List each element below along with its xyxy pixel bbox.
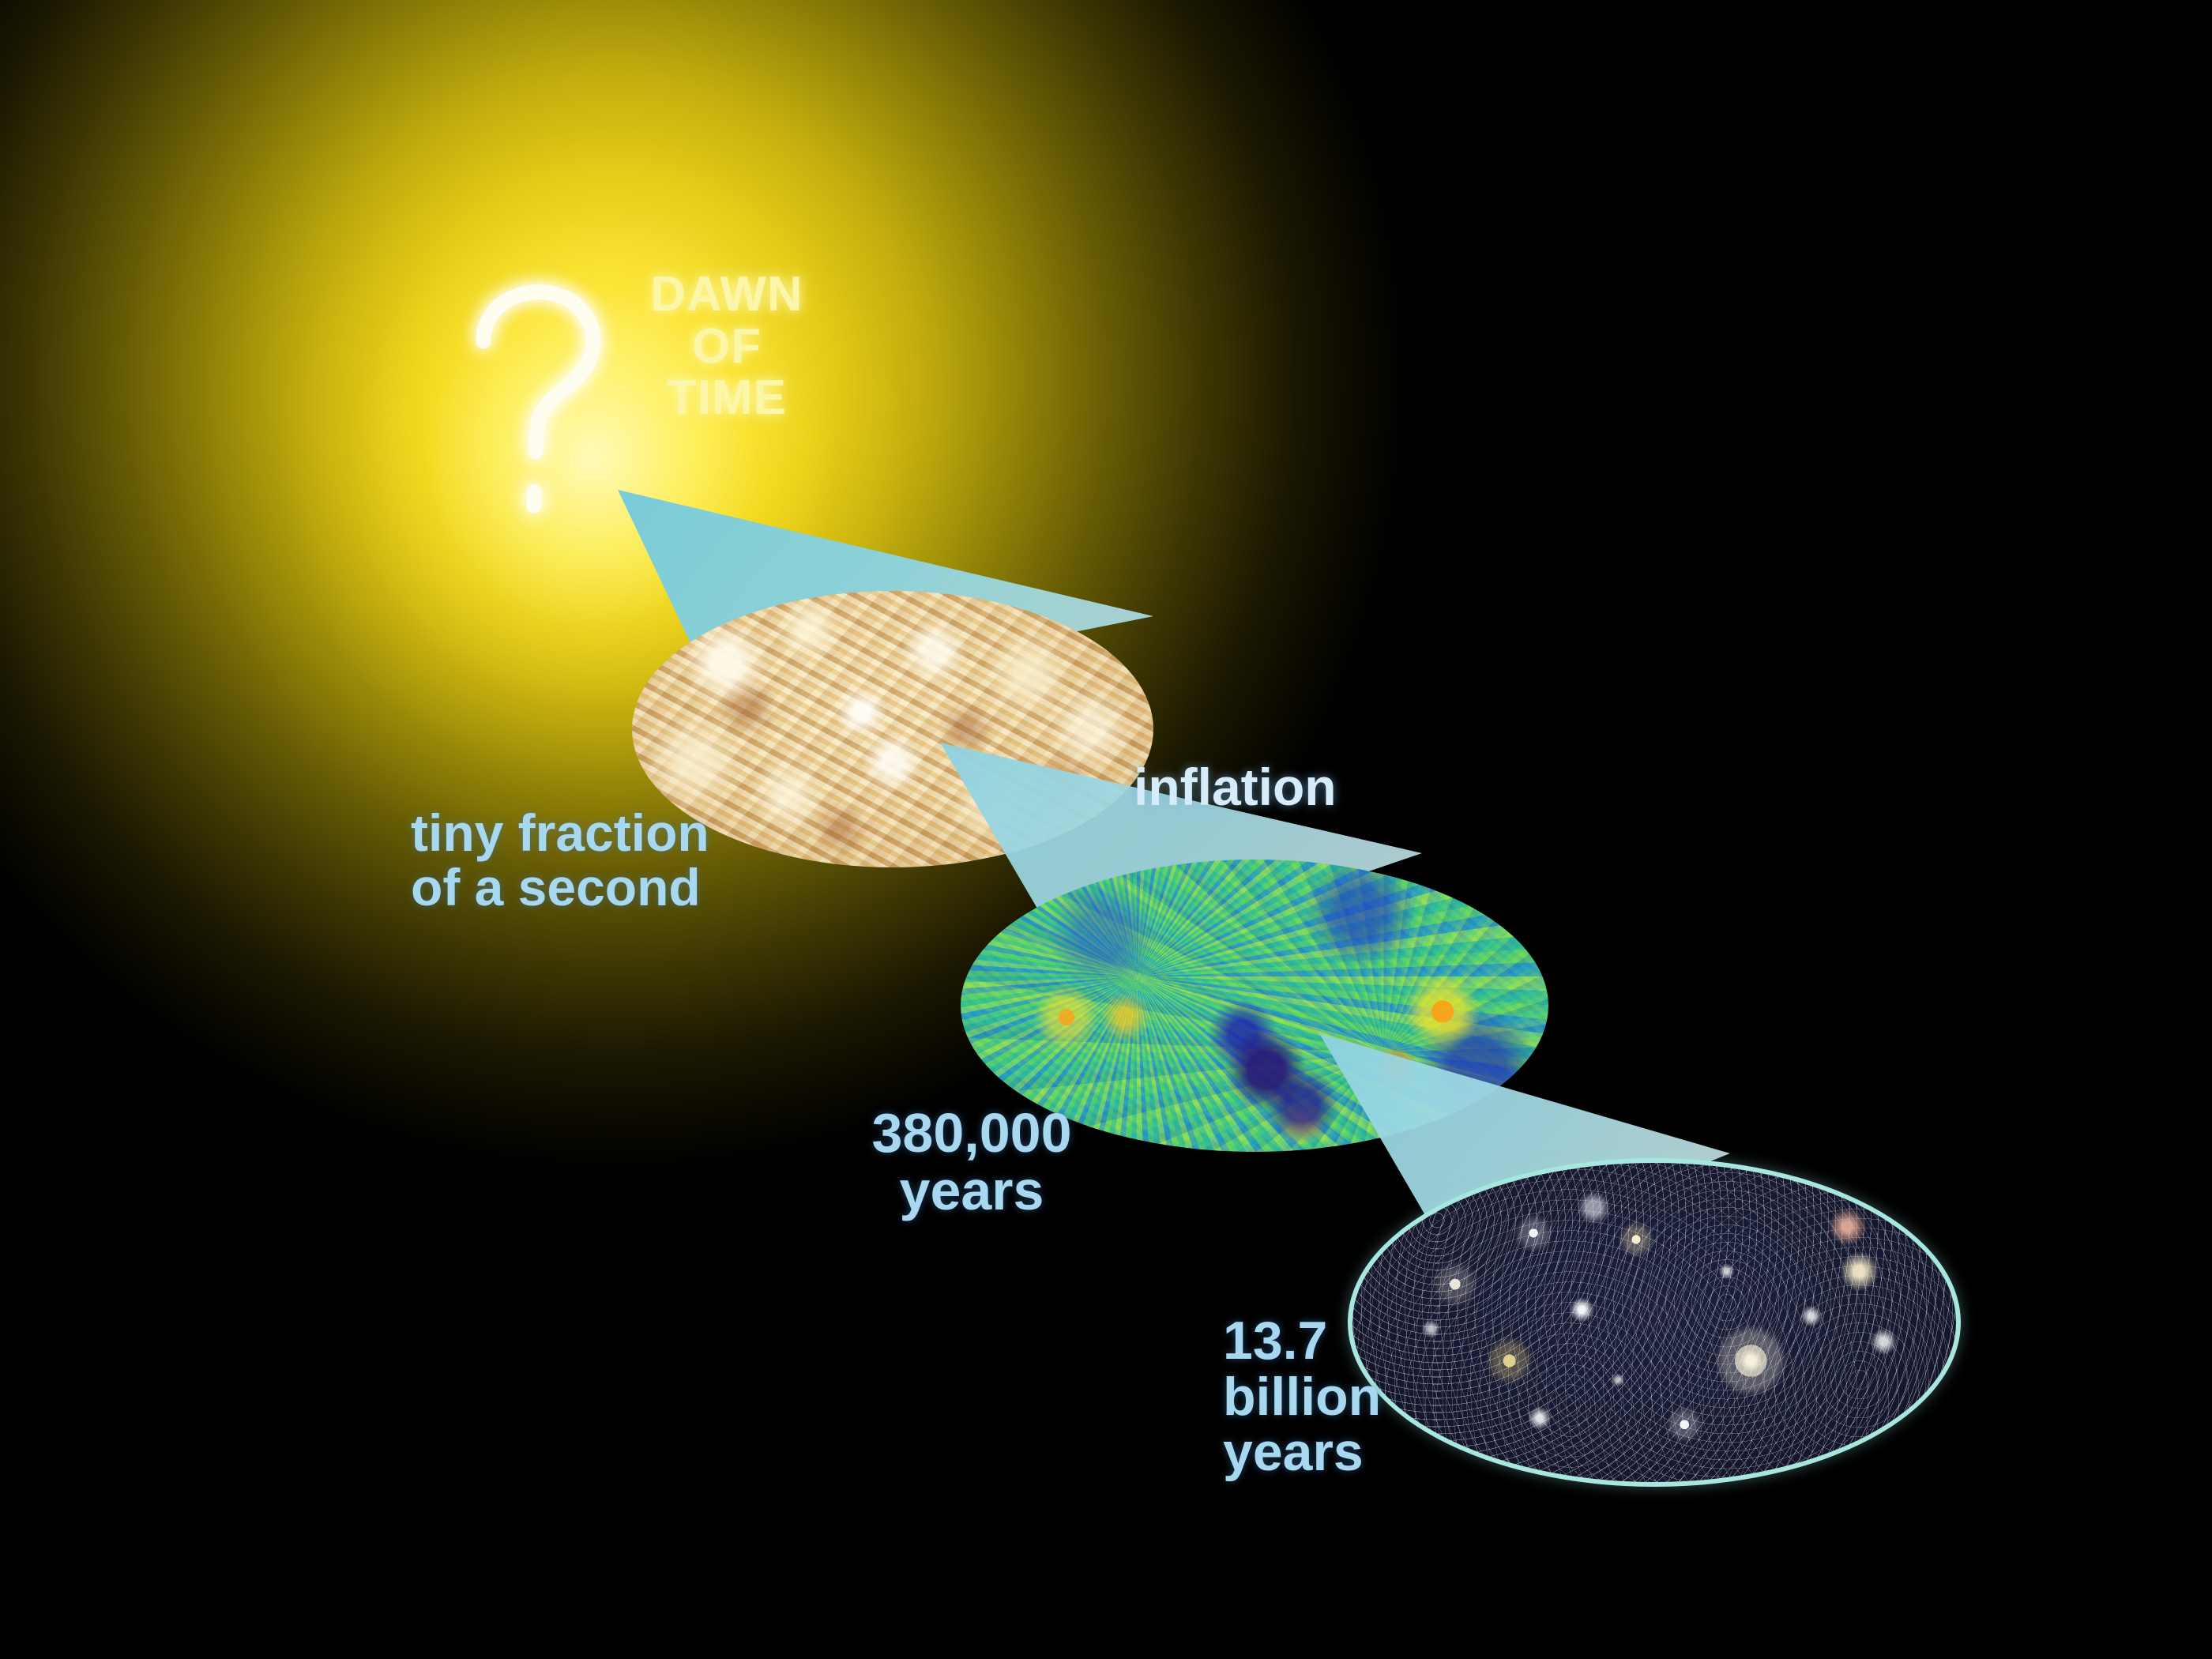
timeline-of-the-universe-figure: DAWN OF TIME tiny fraction of a second i… [0, 0, 2212, 1659]
label-380000-years: 380,000 years [857, 1104, 1086, 1220]
today-line-3: years [1223, 1424, 1381, 1480]
today-line-2: billion [1223, 1369, 1381, 1425]
label-tiny-fraction-of-a-second: tiny fraction of a second [411, 806, 709, 914]
dawn-of-time-label: DAWN OF TIME [608, 269, 845, 424]
dawn-line-1: DAWN [608, 269, 845, 321]
inflation-text: inflation [1134, 760, 1337, 814]
label-inflation: inflation [1134, 760, 1337, 814]
cmb-line-1: 380,000 [857, 1104, 1086, 1162]
cmb-line-2: years [857, 1162, 1086, 1220]
today-line-1: 13.7 [1223, 1313, 1381, 1369]
tiny-fraction-line-2: of a second [411, 860, 709, 915]
dawn-line-2: OF [608, 321, 845, 373]
tiny-fraction-line-1: tiny fraction [411, 806, 709, 860]
dawn-line-3: TIME [608, 372, 845, 424]
label-13-7-billion-years: 13.7 billion years [1223, 1313, 1381, 1480]
galaxies-today-ellipse [1348, 1158, 1961, 1487]
